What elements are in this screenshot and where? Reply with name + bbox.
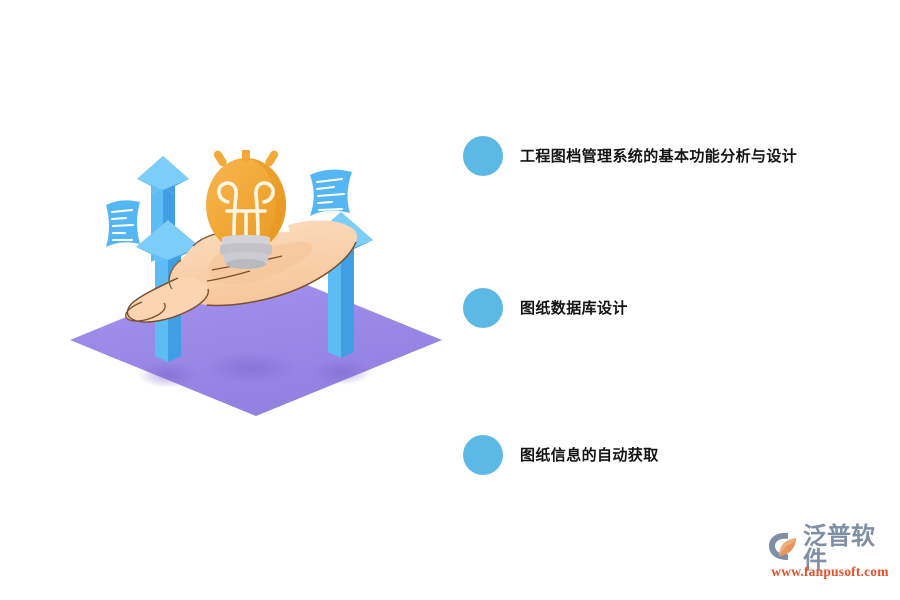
arrow-shadow-right <box>312 359 372 385</box>
hand-shadow <box>204 352 296 384</box>
list-item-label: 工程图档管理系统的基本功能分析与设计 <box>520 149 797 164</box>
fanpu-logo-icon <box>766 531 800 566</box>
list-item-label: 图纸数据库设计 <box>520 301 628 316</box>
bullet-dot-icon <box>463 288 503 328</box>
list-item[interactable]: 工程图档管理系统的基本功能分析与设计 <box>463 134 797 178</box>
list-item[interactable]: 图纸数据库设计 <box>463 286 628 330</box>
arrow-shadow-left <box>138 362 198 388</box>
brand-watermark: 泛普软件 www.fanpusoft.com <box>766 530 894 586</box>
feature-bullet-list: 工程图档管理系统的基本功能分析与设计 图纸数据库设计 图纸信息的自动获取 <box>463 118 883 498</box>
bullet-dot-icon <box>463 435 503 475</box>
list-item-label: 图纸信息的自动获取 <box>520 448 659 463</box>
document-scrap-right-icon <box>310 170 352 216</box>
brand-url: www.fanpusoft.com <box>766 564 894 580</box>
list-item[interactable]: 图纸信息的自动获取 <box>463 433 659 477</box>
bullet-dot-icon <box>463 136 503 176</box>
slide-canvas: 工程图档管理系统的基本功能分析与设计 图纸数据库设计 图纸信息的自动获取 泛普软… <box>0 0 900 600</box>
document-scrap-left-icon <box>106 200 140 247</box>
watermark-logo-row: 泛普软件 <box>766 530 894 566</box>
hand-lightbulb-illustration <box>60 150 460 440</box>
bulb-base-icon <box>220 235 272 269</box>
